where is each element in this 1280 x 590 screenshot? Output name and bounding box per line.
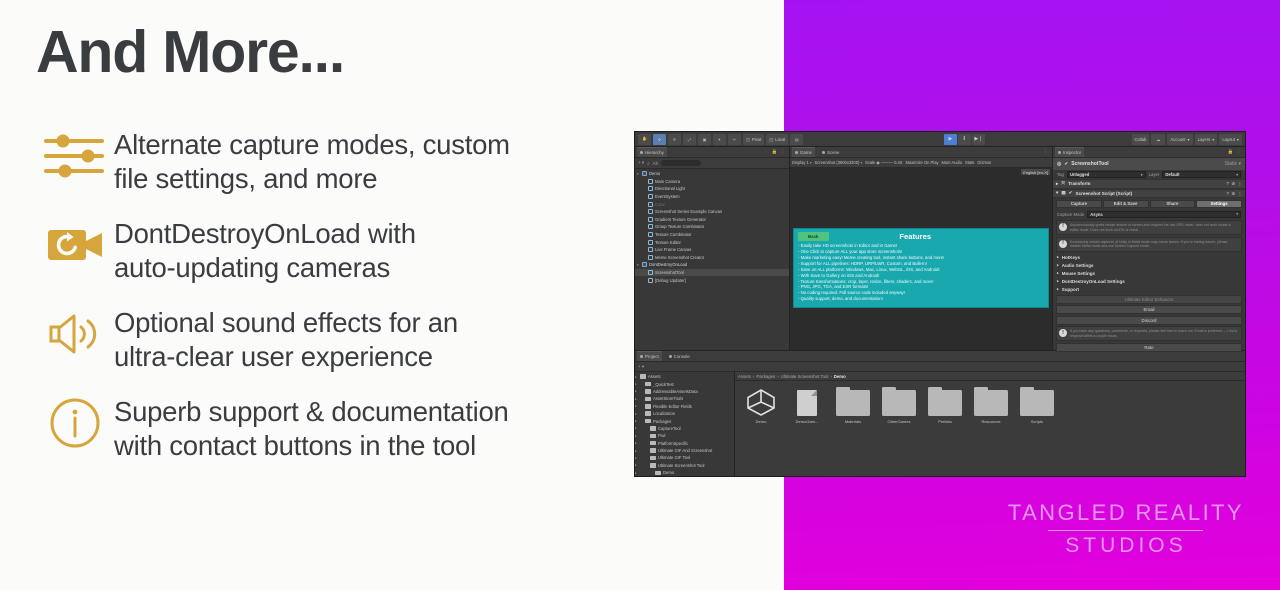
tab-console[interactable]: Console — [666, 351, 693, 361]
tab-inspector-label: Inspector — [1063, 150, 1081, 155]
info-circle-icon — [36, 391, 114, 455]
kebab-menu-icon[interactable]: ⋮ — [1044, 149, 1049, 155]
project-tree-item[interactable]: ▸Assets — [635, 373, 734, 380]
project-tree-label: Demo — [663, 470, 674, 475]
asset-label: Demo — [741, 419, 781, 424]
back-button[interactable]: Back — [798, 232, 829, 240]
asset-item[interactable]: Materials — [833, 388, 873, 424]
project-asset-browser: Assets›Packages›Ultimate Screenshot Tool… — [735, 372, 1245, 477]
foldout-support[interactable]: ▸Support — [1053, 285, 1245, 293]
object-name[interactable]: ScreenshotTool — [1071, 161, 1108, 167]
features-list: - Easily take HD screenshots in Editor a… — [798, 243, 1044, 302]
expand-arrow-icon[interactable]: ▸ — [635, 441, 640, 445]
bullet-line-1: Optional sound effects for an — [114, 307, 458, 338]
bullet-item: Optional sound effects for an ultra-clea… — [36, 302, 656, 373]
project-tree-label: Ultimate Screenshot Tool — [658, 463, 704, 468]
tab-hierarchy-label: Hierarchy — [645, 150, 664, 155]
hierarchy-item[interactable]: Texture Combinator — [635, 231, 789, 239]
folder-icon — [645, 397, 651, 402]
project-tree-item[interactable]: ▸Fiwi — [635, 432, 734, 439]
tab-scene[interactable]: Scene — [819, 147, 842, 157]
hierarchy-item[interactable]: Gradient Texture Generator — [635, 216, 789, 224]
layers-label: Layers — [1198, 137, 1211, 142]
add-asset-button[interactable]: + ▾ — [638, 364, 644, 370]
folder-icon — [645, 382, 651, 387]
kebab-menu-icon[interactable]: ⋮ — [1237, 149, 1242, 155]
note-text: Asynchronously grabs render texture of s… — [1070, 223, 1239, 232]
expand-arrow-icon[interactable]: ▸ — [635, 449, 640, 453]
layer-dropdown[interactable]: Default — [1162, 171, 1241, 178]
move-tool-icon[interactable]: ✥ — [653, 134, 666, 145]
asset-item[interactable]: Demo — [741, 388, 781, 424]
tag-dropdown[interactable]: Untagged — [1067, 171, 1146, 178]
expand-arrow-icon[interactable]: ▸ — [635, 412, 640, 416]
expand-arrow-icon[interactable]: ▸ — [635, 456, 640, 460]
asset-icon — [925, 388, 965, 416]
foldout-mouse-settings[interactable]: ▸Mouse Settings — [1053, 269, 1245, 277]
pivot-toggle-button[interactable]: ◳ Pivot — [743, 134, 764, 145]
bullet-line-2: with contact buttons in the tool — [114, 430, 476, 461]
local-toggle-button[interactable]: ◰ Local — [766, 134, 788, 145]
layout-dropdown[interactable]: Layout▾ — [1219, 134, 1242, 145]
support-note: ! If you have any questions, comments, o… — [1056, 326, 1242, 341]
hierarchy-item[interactable]: ▾DontDestroyOnLoad — [635, 261, 789, 269]
bullet-line-1: DontDestroyOnLoad with — [114, 218, 416, 249]
inspector-tab-capture[interactable]: Capture — [1056, 200, 1102, 209]
inspector-tab-share[interactable]: Share — [1150, 200, 1196, 209]
expand-arrow-icon[interactable]: ▸ — [635, 404, 640, 408]
scale-tool-icon[interactable]: ⤢ — [683, 134, 696, 145]
unity-main-toolbar: ✋ ✥ ⟳ ⤢ ▣ ✦ ✂ ◳ Pivot ◰ Local ▤ ▶ ‖ ▶❘ — [635, 132, 1245, 147]
project-tree-item[interactable]: ▸Localization — [635, 410, 734, 417]
asset-icon — [741, 388, 781, 416]
foldout-label: DontDestroyOnLoad Settings — [1062, 279, 1125, 284]
hierarchy-icon — [640, 151, 643, 154]
project-tree-label: PlatformSpecific — [658, 441, 688, 446]
folder-icon — [882, 390, 916, 416]
tab-scene-label: Scene — [827, 150, 839, 155]
hierarchy-item[interactable]: ▾Demo — [635, 170, 789, 178]
hierarchy-item-label: Texture Editor — [655, 240, 681, 245]
tab-hierarchy[interactable]: Hierarchy — [637, 147, 667, 157]
warning-icon: ! — [1059, 223, 1067, 231]
capture-mode-dropdown[interactable]: Async — [1087, 211, 1241, 218]
game-view-panel: Game Scene ⋮ Display 1 ▾ — [790, 147, 1053, 350]
project-body: ▸Assets▸_QuickTest▸AddressableAssetsData… — [635, 372, 1245, 477]
expand-arrow-icon[interactable]: ▸ — [1057, 263, 1059, 267]
tag-value: Untagged — [1070, 172, 1089, 177]
breadcrumb-separator: › — [777, 374, 778, 379]
collab-label: Collab — [1135, 137, 1147, 142]
project-tree-item[interactable]: ▸PlatformSpecific — [635, 440, 734, 447]
tab-inspector[interactable]: Inspector — [1055, 147, 1084, 157]
folder-icon — [645, 419, 651, 424]
hierarchy-search-row: + ▾ ⌕ All — [635, 158, 789, 169]
folder-icon — [645, 411, 651, 416]
expand-arrow-icon[interactable]: ▸ — [635, 434, 640, 438]
asset-item[interactable]: Resources — [971, 388, 1011, 424]
kebab-menu-icon[interactable]: ⋮ — [781, 149, 786, 155]
pause-button[interactable]: ‖ — [958, 134, 971, 145]
project-tree-label: CaptureTool — [658, 426, 681, 431]
project-tree-label: Assets — [648, 374, 661, 379]
scale-label: Scale — [865, 160, 875, 165]
project-tree-item[interactable]: ▸_QuickTest — [635, 380, 734, 387]
inspector-icon — [1058, 151, 1061, 154]
expand-arrow-icon[interactable]: ▸ — [635, 389, 640, 393]
component-actions: ? ⚙ ⋮ — [1226, 191, 1242, 196]
hierarchy-item[interactable]: Directional Light — [635, 185, 789, 193]
expand-arrow-icon[interactable]: ▸ — [1057, 255, 1059, 259]
console-icon — [669, 355, 672, 358]
scene-icon — [822, 151, 825, 154]
hierarchy-item[interactable]: Live Frame Canvas — [635, 246, 789, 254]
features-card-header: Back Features — [798, 232, 1044, 241]
custom-tool-icon[interactable]: ✂ — [728, 134, 741, 145]
folder-icon — [640, 374, 646, 379]
playmode-controls: ▶ ‖ ▶❘ — [944, 134, 985, 145]
foldout-label: Audio Settings — [1062, 263, 1094, 268]
gameobject-icon — [648, 247, 653, 252]
project-tree-item[interactable]: ▸Packages — [635, 417, 734, 424]
help-icon[interactable]: ? — [1226, 181, 1229, 186]
expand-arrow-icon[interactable]: ▸ — [1057, 279, 1059, 283]
rate-button[interactable]: Rate — [1056, 343, 1242, 352]
asset-icon — [879, 388, 919, 416]
project-tree-item[interactable]: ▸Demo — [635, 469, 734, 476]
bullet-text: Superb support & documentation with cont… — [114, 391, 509, 462]
static-dropdown[interactable]: Static ▾ — [1225, 161, 1241, 167]
unity-scene-icon — [746, 388, 776, 416]
component-transform[interactable]: ▸ ⤧ Transform ? ⚙ ⋮ — [1053, 179, 1245, 189]
bullet-line-2: auto-updating cameras — [114, 252, 390, 283]
inspector-section-tabs: CaptureEdit & SaveShareSettings — [1053, 198, 1245, 210]
component-name: Screenshot Script (Script) — [1076, 191, 1133, 196]
gameobject-icon: ◎ — [1057, 161, 1061, 167]
hierarchy-tab-actions: 🔒 ⋮ — [772, 149, 787, 155]
hierarchy-item-label: Cube — [655, 202, 665, 207]
asset-label: Prefabs — [925, 419, 965, 424]
account-dropdown[interactable]: Account▾ — [1167, 134, 1192, 145]
expand-arrow-icon[interactable]: ▸ — [1057, 271, 1059, 275]
tab-project[interactable]: Project — [637, 351, 662, 361]
gameobject-icon — [648, 194, 653, 199]
kebab-menu-icon[interactable]: ⋮ — [1238, 181, 1242, 186]
folder-icon — [836, 390, 870, 416]
brand-line-1: TANGLED REALITY — [1008, 500, 1244, 526]
asset-icon — [971, 388, 1011, 416]
preset-icon[interactable]: ⚙ — [1232, 191, 1236, 196]
capture-mode-value: Async — [1090, 212, 1103, 217]
scale-handle-icon: ◉ — [876, 160, 880, 165]
folder-icon — [650, 448, 656, 453]
bullet-line-1: Superb support & documentation — [114, 396, 509, 427]
layers-dropdown[interactable]: Layers▾ — [1195, 134, 1218, 145]
folder-icon — [650, 463, 656, 468]
project-tree-item[interactable]: ▸Ultimate GIF And Screenshot — [635, 447, 734, 454]
folder-icon — [650, 434, 656, 439]
asset-item[interactable]: OtherGames — [879, 388, 919, 424]
document-icon — [797, 390, 817, 416]
hierarchy-item-label: Main Camera — [655, 179, 680, 184]
hierarchy-item[interactable]: EventSystem — [635, 193, 789, 201]
local-label: Local — [775, 137, 785, 142]
scale-value: 0.4X — [894, 160, 902, 165]
tab-console-label: Console — [674, 354, 690, 359]
branding-logo: TANGLED REALITY STUDIOS — [1008, 500, 1244, 559]
feature-line: - Quality support, demo, and documentati… — [798, 296, 1044, 302]
bullet-item: DontDestroyOnLoad with auto-updating cam… — [36, 213, 656, 284]
project-tree-item[interactable]: ▸Flexible Editor Fields — [635, 403, 734, 410]
expand-arrow-icon[interactable]: ▸ — [635, 426, 640, 430]
add-object-button[interactable]: + ▾ — [638, 160, 644, 166]
bullet-line-1: Alternate capture modes, custom — [114, 129, 510, 160]
rect-tool-icon[interactable]: ▣ — [698, 134, 711, 145]
game-view-canvas[interactable]: English [en-X] Back Features - Easily ta… — [790, 168, 1052, 350]
inspector-panel: Inspector 🔒 ⋮ ◎ ✔ ScreenshotTool Static … — [1053, 147, 1245, 350]
project-tree-label: Localization — [653, 411, 675, 416]
gameobject-icon — [648, 224, 653, 229]
bullet-text: Optional sound effects for an ultra-clea… — [114, 302, 458, 373]
folder-icon — [650, 441, 656, 446]
rotate-tool-icon[interactable]: ⟳ — [668, 134, 681, 145]
gameobject-icon — [648, 179, 653, 184]
asset-label: DemoGam... — [787, 419, 827, 424]
folder-icon — [645, 404, 651, 409]
expand-arrow-icon[interactable]: ▸ — [635, 463, 640, 467]
layout-label: Layout — [1222, 137, 1235, 142]
email-button[interactable]: Email — [1056, 305, 1242, 314]
capture-mode-label: Capture Mode — [1057, 212, 1084, 217]
gameobject-icon — [648, 217, 653, 222]
tag-layer-row: Tag Untagged Layer Default — [1053, 170, 1245, 179]
account-label: Account — [1170, 137, 1185, 142]
note-text: Excessively certain captures of Unity in… — [1070, 240, 1239, 249]
inspector-tab-actions: 🔒 ⋮ — [1228, 149, 1243, 155]
gameobject-icon — [648, 240, 653, 245]
foldout-hotkeys[interactable]: ▸HotKeys — [1053, 253, 1245, 261]
folder-icon — [650, 426, 656, 431]
expand-arrow-icon[interactable]: ▸ — [1057, 287, 1059, 291]
tab-project-label: Project — [645, 354, 659, 359]
asset-grid: DemoDemoGam...MaterialsOtherGamesPrefabs… — [735, 381, 1245, 431]
bullet-item: Superb support & documentation with cont… — [36, 391, 656, 462]
lock-icon[interactable]: 🔒 — [772, 149, 778, 155]
hierarchy-item[interactable]: Cube — [635, 200, 789, 208]
search-icon[interactable]: ⌕ — [647, 161, 650, 166]
project-tree-label: AddressableAssetsData — [653, 389, 698, 394]
hierarchy-item-label: ScreenshotTool — [655, 270, 684, 275]
project-tabbar: Project Console — [635, 351, 1245, 362]
hand-tool-icon[interactable]: ✋ — [638, 134, 651, 145]
display-dropdown[interactable]: Display 1 ▾ — [792, 160, 812, 165]
component-enabled-checkbox[interactable]: ✔ — [1069, 190, 1073, 196]
hierarchy-item[interactable]: Group Texture Combinator — [635, 223, 789, 231]
asset-icon — [833, 388, 873, 416]
static-label: Static — [1225, 161, 1238, 167]
hierarchy-item-label: EventSystem — [655, 194, 680, 199]
breadcrumb-item[interactable]: Demo — [834, 374, 846, 379]
info-note: ! Asynchronously grabs render texture of… — [1056, 220, 1242, 235]
hierarchy-tabbar: Hierarchy 🔒 ⋮ — [635, 147, 789, 158]
foldout-label: Mouse Settings — [1062, 271, 1095, 276]
hierarchy-item[interactable]: Texture Editor — [635, 238, 789, 246]
gizmos-dropdown[interactable]: Gizmos — [977, 160, 991, 165]
breadcrumb-item[interactable]: Packages — [756, 374, 775, 379]
hierarchy-item-label: [Debug Updater] — [655, 278, 686, 283]
preset-icon[interactable]: ⚙ — [1232, 181, 1236, 186]
component-screenshot-script[interactable]: ▾ ▤ ✔ Screenshot Script (Script) ? ⚙ ⋮ — [1053, 189, 1245, 199]
bullet-text: DontDestroyOnLoad with auto-updating cam… — [114, 213, 416, 284]
hierarchy-item[interactable]: Main Camera — [635, 178, 789, 186]
collab-button[interactable]: Collab — [1132, 134, 1150, 145]
gameobject-icon — [648, 202, 653, 207]
grid-snap-icon[interactable]: ▤ — [790, 134, 803, 145]
project-tree-item[interactable]: ▸AddressableAssetsData — [635, 388, 734, 395]
gameobject-icon — [648, 255, 653, 260]
scale-slider[interactable]: Scale ◉ ——— 0.4X — [865, 160, 903, 165]
play-button[interactable]: ▶ — [944, 134, 957, 145]
folder-icon — [1020, 390, 1054, 416]
search-input[interactable] — [661, 160, 701, 166]
project-tree-label: _QuickTest — [653, 382, 674, 387]
mute-audio-toggle[interactable]: Mute Audio — [942, 160, 962, 165]
asset-label: Materials — [833, 419, 873, 424]
expand-arrow-icon[interactable]: ▸ — [635, 397, 640, 401]
enabled-checkbox[interactable]: ✔ — [1064, 161, 1068, 167]
breadcrumb-item[interactable]: Ultimate Screenshot Tool — [781, 374, 829, 379]
foldout-audio-settings[interactable]: ▸Audio Settings — [1053, 261, 1245, 269]
chevron-down-icon: ▾ — [1237, 137, 1239, 142]
maximize-on-play-toggle[interactable]: Maximize On Play — [906, 160, 939, 165]
feature-bullet-list: Alternate capture modes, custom file set… — [36, 124, 656, 480]
hierarchy-item-label: Texture Combinator — [655, 232, 692, 237]
search-filter-label: All — [653, 161, 658, 166]
layer-value: Default — [1165, 172, 1179, 177]
slide-root: And More... Alternate capture modes, cus… — [0, 0, 1280, 590]
chevron-down-icon: ▾ — [1188, 137, 1190, 142]
hierarchy-item[interactable]: Meme Screenshot Creator — [635, 254, 789, 262]
pivot-icon: ◳ — [746, 137, 750, 142]
component-name: Transform — [1068, 181, 1090, 186]
sliders-icon — [36, 124, 114, 188]
tab-game-label: Game — [800, 150, 812, 155]
inspector-foldouts: ▸HotKeys▸Audio Settings▸Mouse Settings▸D… — [1053, 253, 1245, 293]
game-view-toolbar: Display 1 ▾ Screenshot (3600x3200) ▾ Sca… — [790, 158, 1052, 168]
expand-arrow-icon[interactable]: ▸ — [635, 382, 640, 386]
inspector-tab-edit-save[interactable]: Edit & Save — [1103, 200, 1149, 209]
gameobject-icon — [642, 262, 647, 267]
foldout-dontdestroyonload-settings[interactable]: ▸DontDestroyOnLoad Settings — [1053, 277, 1245, 285]
bullet-item: Alternate capture modes, custom file set… — [36, 124, 656, 195]
resolution-dropdown[interactable]: Screenshot (3600x3200) ▾ — [815, 160, 863, 165]
transform-icon: ⤧ — [1061, 181, 1065, 186]
project-tree-label: Flexible Editor Fields — [653, 404, 692, 409]
breadcrumb: Assets›Packages›Ultimate Screenshot Tool… — [735, 372, 1245, 381]
project-tree-item[interactable]: ▸Editor — [635, 476, 734, 477]
cloud-icon[interactable]: ☁ — [1151, 134, 1165, 145]
asset-icon — [1017, 388, 1057, 416]
asset-item[interactable]: Scripts — [1017, 388, 1057, 424]
breadcrumb-separator: › — [753, 374, 754, 379]
hierarchy-item[interactable]: [Debug Updater] — [635, 276, 789, 284]
features-card-title: Features — [829, 232, 1003, 241]
expand-arrow-icon[interactable]: ▸ — [1056, 181, 1058, 187]
asset-label: OtherGames — [879, 419, 919, 424]
stats-toggle[interactable]: Stats — [965, 160, 974, 165]
game-view-tabbar: Game Scene ⋮ — [790, 147, 1052, 158]
brand-line-2: STUDIOS — [1008, 534, 1244, 558]
folder-icon — [655, 471, 661, 476]
expand-arrow-icon[interactable]: ▸ — [635, 419, 640, 423]
tab-game[interactable]: Game — [792, 147, 815, 157]
game-icon — [795, 151, 798, 154]
foldout-label: Support — [1062, 287, 1079, 292]
foldout-label: HotKeys — [1062, 255, 1080, 260]
resolution-label: Screenshot (3600x3200) — [815, 160, 860, 165]
ultimate-editor-enhancer-label: Ultimate Editor Enhancer — [1056, 295, 1242, 304]
folder-icon — [650, 456, 656, 461]
project-panel: Project Console + ▾ ▸Assets▸_QuickTest▸A… — [635, 350, 1245, 477]
asset-item[interactable]: Prefabs — [925, 388, 965, 424]
hierarchy-item-label: Meme Screenshot Creator — [655, 255, 704, 260]
hierarchy-item[interactable]: Screenshot Series Example Canvas — [635, 208, 789, 216]
hierarchy-item-label: DontDestroyOnLoad — [649, 262, 687, 267]
brand-divider — [1048, 530, 1203, 532]
project-tree-item[interactable]: ▸CaptureTool — [635, 425, 734, 432]
discord-button[interactable]: Discord — [1056, 316, 1242, 325]
transform-tool-icon[interactable]: ✦ — [713, 134, 726, 145]
asset-item[interactable]: DemoGam... — [787, 388, 827, 424]
scale-track-icon: ——— — [881, 160, 893, 165]
info-note: ! Excessively certain captures of Unity … — [1056, 237, 1242, 252]
component-actions: ? ⚙ ⋮ — [1226, 181, 1242, 186]
game-tab-actions: ⋮ — [1044, 149, 1051, 155]
speaker-sound-icon — [36, 302, 114, 366]
inspector-tabbar: Inspector 🔒 ⋮ — [1053, 147, 1245, 158]
gameobject-icon — [648, 186, 653, 191]
folder-icon — [645, 389, 651, 394]
hierarchy-item-label: Live Frame Canvas — [655, 247, 691, 252]
breadcrumb-item[interactable]: Assets — [738, 374, 751, 379]
hierarchy-item-label: Directional Light — [655, 186, 685, 191]
chevron-down-icon: ▾ — [810, 161, 812, 165]
project-tree-label: AssetStoreTools — [653, 396, 683, 401]
features-card: Back Features - Easily take HD screensho… — [793, 228, 1049, 308]
project-tree-item[interactable]: ▸Ultimate GIF Tool — [635, 454, 734, 461]
bullet-text: Alternate capture modes, custom file set… — [114, 124, 510, 195]
page-title: And More... — [36, 22, 344, 84]
support-note-text: If you have any questions, comments, or … — [1070, 329, 1239, 338]
project-tree-item[interactable]: ▸Ultimate Screenshot Tool — [635, 462, 734, 469]
project-tree-label: Ultimate GIF And Screenshot — [658, 448, 712, 453]
project-toolbar: + ▾ — [635, 362, 1245, 372]
lock-icon[interactable]: 🔒 — [1228, 149, 1234, 155]
help-icon[interactable]: ? — [1226, 191, 1229, 196]
unity-main-body: Hierarchy 🔒 ⋮ + ▾ ⌕ All ▾DemoMain Camera… — [635, 147, 1245, 350]
project-tree-label: Fiwi — [658, 433, 665, 438]
inspector-tab-settings[interactable]: Settings — [1196, 200, 1242, 209]
kebab-menu-icon[interactable]: ⋮ — [1238, 191, 1242, 196]
capture-mode-row: Capture Mode Async — [1053, 210, 1245, 219]
expand-arrow-icon[interactable]: ▸ — [635, 471, 640, 475]
warning-icon: ! — [1059, 240, 1067, 248]
project-tree-item[interactable]: ▸AssetStoreTools — [635, 395, 734, 402]
hierarchy-item[interactable]: ScreenshotTool — [635, 269, 789, 277]
step-button[interactable]: ▶❘ — [972, 134, 985, 145]
expand-arrow-icon[interactable]: ▾ — [1056, 190, 1058, 196]
bullet-line-2: ultra-clear user experience — [114, 341, 433, 372]
